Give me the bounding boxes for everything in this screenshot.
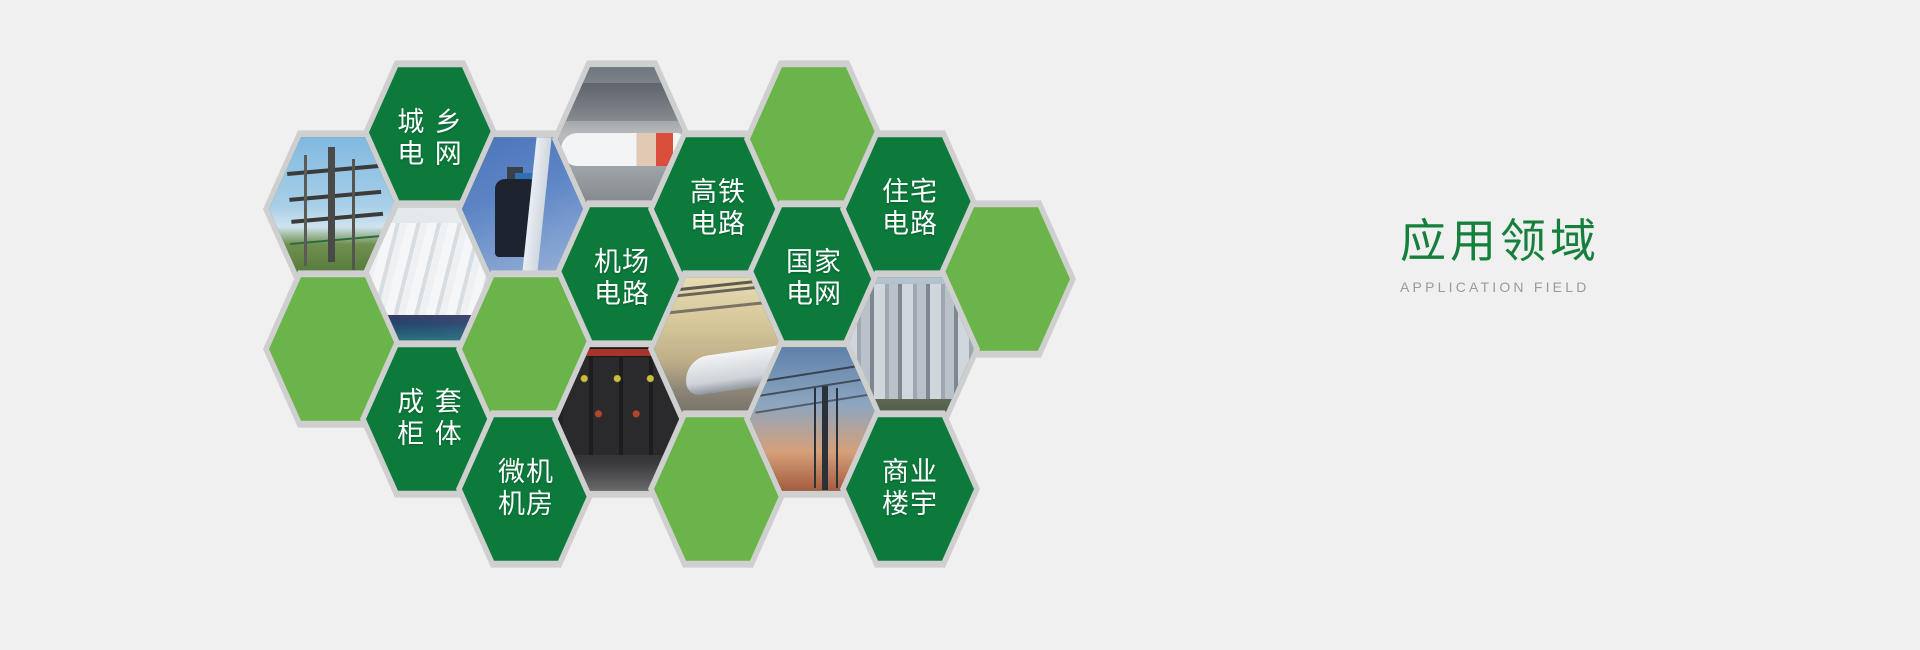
hexagon-label: 高铁 电路 [690, 177, 746, 241]
hexagon-inner: 商业 楼宇 [846, 415, 974, 563]
hexagon-label: 城 乡 电 网 [397, 107, 463, 171]
hexagon-label: 微机 机房 [498, 457, 554, 521]
page-title: 应用领域 [1400, 216, 1820, 267]
title-block: 应用领域 APPLICATION FIELD [1400, 216, 1820, 295]
hexagon-label: 国家 电网 [786, 247, 842, 311]
application-field-banner: 城 乡 电 网机场 电路高铁 电路国家 电网住宅 电路成 套 柜 体微机 机房商… [0, 0, 1920, 650]
hexagon-honeycomb: 城 乡 电 网机场 电路高铁 电路国家 电网住宅 电路成 套 柜 体微机 机房商… [0, 0, 1300, 650]
hexagon-label: 成 套 柜 体 [397, 387, 463, 451]
hexagon-label: 机场 电路 [594, 247, 650, 311]
hexagon-label: 商业 楼宇 [882, 457, 938, 521]
page-subtitle: APPLICATION FIELD [1400, 279, 1820, 295]
hexagon-label: 住宅 电路 [882, 177, 938, 241]
